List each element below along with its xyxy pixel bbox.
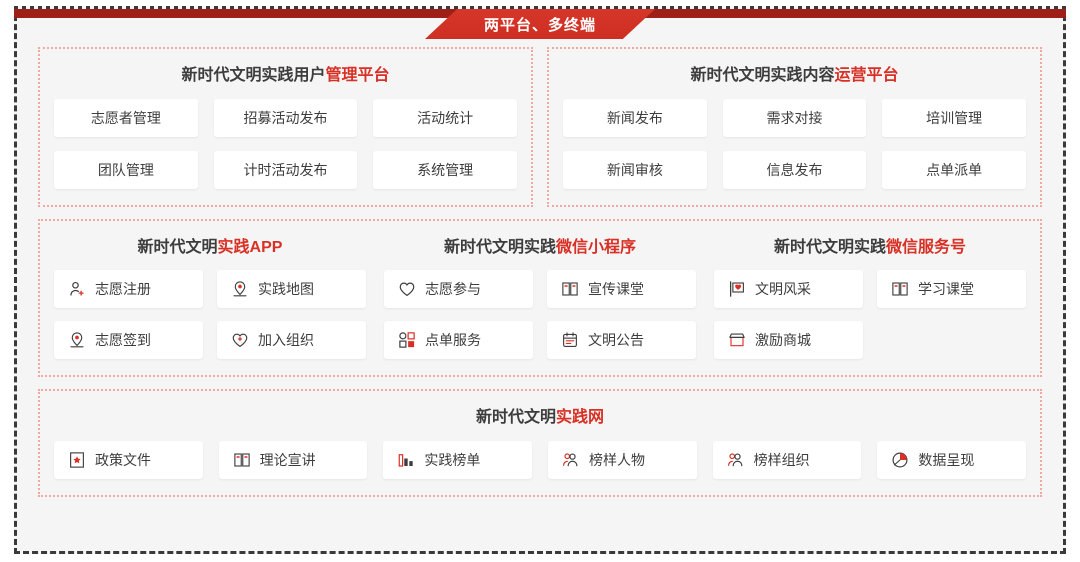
section-website: 新时代文明实践网 政策文件 理论宣讲	[38, 389, 1042, 497]
tile-label: 招募活动发布	[243, 111, 327, 125]
tile-label: 文明公告	[588, 333, 644, 347]
tile-label: 系统管理	[417, 163, 473, 177]
panel-title-plain: 新时代文明实践用户	[181, 67, 325, 84]
group-title-plain: 新时代文明	[138, 239, 218, 256]
tile-grid: 政策文件 理论宣讲	[54, 441, 1026, 479]
panel-title: 新时代文明实践用户管理平台	[54, 61, 517, 85]
tile-data-presentation[interactable]: 数据呈现	[877, 441, 1026, 479]
tile-label: 学习课堂	[918, 282, 974, 296]
group-grid: 文明风采 学习课堂	[714, 270, 1026, 359]
tile-label: 实践榜单	[424, 453, 480, 467]
tile-order-dispatch[interactable]: 点单派单	[882, 151, 1026, 189]
group-title: 新时代文明实践APP	[54, 233, 366, 257]
ribbon-title: 两平台、多终端	[484, 14, 596, 35]
tile-label: 新闻发布	[607, 111, 663, 125]
tile-role-model-organization[interactable]: 榜样组织	[713, 441, 862, 479]
tile-recruitment-activity-publish[interactable]: 招募活动发布	[214, 99, 358, 137]
tile-order-service[interactable]: 点单服务	[384, 321, 533, 359]
content-area: 新时代文明实践用户管理平台 志愿者管理 招募活动发布 活动统计 团队管理 计时活…	[14, 39, 1066, 554]
tile-news-publish[interactable]: 新闻发布	[563, 99, 707, 137]
tile-label: 培训管理	[926, 111, 982, 125]
two-people-icon	[727, 451, 745, 469]
tile-civilization-notice[interactable]: 文明公告	[547, 321, 696, 359]
section-terminals: 新时代文明实践APP 志愿注册	[38, 219, 1042, 377]
group-title: 新时代文明实践微信小程序	[384, 233, 696, 257]
flag-heart-icon	[728, 280, 746, 298]
notice-board-icon	[561, 331, 579, 349]
tile-label: 实践地图	[258, 282, 314, 296]
document-star-icon	[68, 451, 86, 469]
tile-label: 需求对接	[766, 111, 822, 125]
panel-title-plain: 新时代文明实践内容	[690, 67, 834, 84]
tile-label: 志愿者管理	[91, 111, 161, 125]
tile-news-review[interactable]: 新闻审核	[563, 151, 707, 189]
two-people-icon	[562, 451, 580, 469]
tile-volunteer-management[interactable]: 志愿者管理	[54, 99, 198, 137]
shop-icon	[728, 331, 746, 349]
group-grid-empty-slot	[877, 321, 1026, 359]
tile-grid: 新闻发布 需求对接 培训管理 新闻审核 信息发布 点单派单	[563, 99, 1026, 189]
tile-label: 榜样人物	[589, 453, 645, 467]
panel-title-accent: 实践网	[556, 409, 604, 426]
tile-label: 点单服务	[425, 333, 481, 347]
apps-grid-icon	[398, 331, 416, 349]
pie-chart-icon	[891, 451, 909, 469]
tile-label: 团队管理	[98, 163, 154, 177]
tile-label: 活动统计	[417, 111, 473, 125]
bar-chart-icon	[397, 451, 415, 469]
group-title-plain: 新时代文明实践	[774, 239, 886, 256]
tile-grid: 志愿者管理 招募活动发布 活动统计 团队管理 计时活动发布 系统管理	[54, 99, 517, 189]
tile-civilization-style[interactable]: 文明风采	[714, 270, 863, 308]
tile-practice-ranking[interactable]: 实践榜单	[383, 441, 532, 479]
tile-label: 宣传课堂	[588, 282, 644, 296]
tile-activity-statistics[interactable]: 活动统计	[373, 99, 517, 137]
tile-join-organization[interactable]: 加入组织	[217, 321, 366, 359]
tile-information-publish[interactable]: 信息发布	[723, 151, 867, 189]
group-title-accent: 实践APP	[218, 239, 283, 256]
group-title: 新时代文明实践微信服务号	[714, 233, 1026, 257]
tile-label: 政策文件	[95, 453, 151, 467]
tile-label: 志愿注册	[95, 282, 151, 296]
group-service-account: 新时代文明实践微信服务号 文明风采	[714, 233, 1026, 359]
section-platforms: 新时代文明实践用户管理平台 志愿者管理 招募活动发布 活动统计 团队管理 计时活…	[38, 47, 1042, 207]
tile-role-model-person[interactable]: 榜样人物	[548, 441, 697, 479]
open-book-icon	[561, 280, 579, 298]
tile-label: 文明风采	[755, 282, 811, 296]
tile-label: 数据呈现	[918, 453, 974, 467]
infographic-root: 两平台、多终端 新时代文明实践用户管理平台 志愿者管理 招募活动发布 活动统计 …	[0, 0, 1080, 562]
map-pin-dot-icon	[231, 280, 249, 298]
person-add-icon	[68, 280, 86, 298]
tile-label: 激励商城	[755, 333, 811, 347]
panel-title: 新时代文明实践网	[54, 403, 1026, 427]
panel-user-management-platform: 新时代文明实践用户管理平台 志愿者管理 招募活动发布 活动统计 团队管理 计时活…	[38, 47, 533, 207]
tile-volunteer-checkin[interactable]: 志愿签到	[54, 321, 203, 359]
open-book-icon	[233, 451, 251, 469]
tile-timed-activity-publish[interactable]: 计时活动发布	[214, 151, 358, 189]
tile-label: 点单派单	[926, 163, 982, 177]
panel-title-accent: 管理平台	[326, 67, 390, 84]
tile-policy-documents[interactable]: 政策文件	[54, 441, 203, 479]
outer-frame-top-edge	[14, 6, 1066, 9]
tile-team-management[interactable]: 团队管理	[54, 151, 198, 189]
tile-label: 新闻审核	[607, 163, 663, 177]
heart-plus-icon	[231, 331, 249, 349]
tile-system-management[interactable]: 系统管理	[373, 151, 517, 189]
group-app: 新时代文明实践APP 志愿注册	[54, 233, 366, 359]
tile-label: 理论宣讲	[260, 453, 316, 467]
group-miniprogram: 新时代文明实践微信小程序 志愿参与	[384, 233, 696, 359]
tile-label: 信息发布	[766, 163, 822, 177]
group-title-accent: 微信小程序	[556, 239, 636, 256]
tile-volunteer-participation[interactable]: 志愿参与	[384, 270, 533, 308]
tile-publicity-classroom[interactable]: 宣传课堂	[547, 270, 696, 308]
tile-incentive-mall[interactable]: 激励商城	[714, 321, 863, 359]
tile-demand-matching[interactable]: 需求对接	[723, 99, 867, 137]
panel-title-accent: 运营平台	[835, 67, 899, 84]
ribbon-header: 两平台、多终端	[14, 9, 1066, 39]
tile-label: 志愿参与	[425, 282, 481, 296]
open-book-icon	[891, 280, 909, 298]
tile-label: 计时活动发布	[243, 163, 327, 177]
tile-label: 加入组织	[258, 333, 314, 347]
tile-volunteer-registration[interactable]: 志愿注册	[54, 270, 203, 308]
group-grid: 志愿参与 宣传课堂	[384, 270, 696, 359]
panel-content-operation-platform: 新时代文明实践内容运营平台 新闻发布 需求对接 培训管理 新闻审核 信息发布 点…	[547, 47, 1042, 207]
tile-training-management[interactable]: 培训管理	[882, 99, 1026, 137]
tile-label: 榜样组织	[754, 453, 810, 467]
ribbon-banner: 两平台、多终端	[425, 9, 655, 39]
panel-title-plain: 新时代文明	[476, 409, 556, 426]
group-title-accent: 微信服务号	[886, 239, 966, 256]
tile-label: 志愿签到	[95, 333, 151, 347]
tile-practice-map[interactable]: 实践地图	[217, 270, 366, 308]
group-grid: 志愿注册 实践地图	[54, 270, 366, 359]
tile-study-classroom[interactable]: 学习课堂	[877, 270, 1026, 308]
terminal-groups: 新时代文明实践APP 志愿注册	[54, 233, 1026, 359]
heart-icon	[398, 280, 416, 298]
group-title-plain: 新时代文明实践	[444, 239, 556, 256]
map-pin-dot-icon	[68, 331, 86, 349]
tile-theory-lecture[interactable]: 理论宣讲	[219, 441, 368, 479]
panel-title: 新时代文明实践内容运营平台	[563, 61, 1026, 85]
